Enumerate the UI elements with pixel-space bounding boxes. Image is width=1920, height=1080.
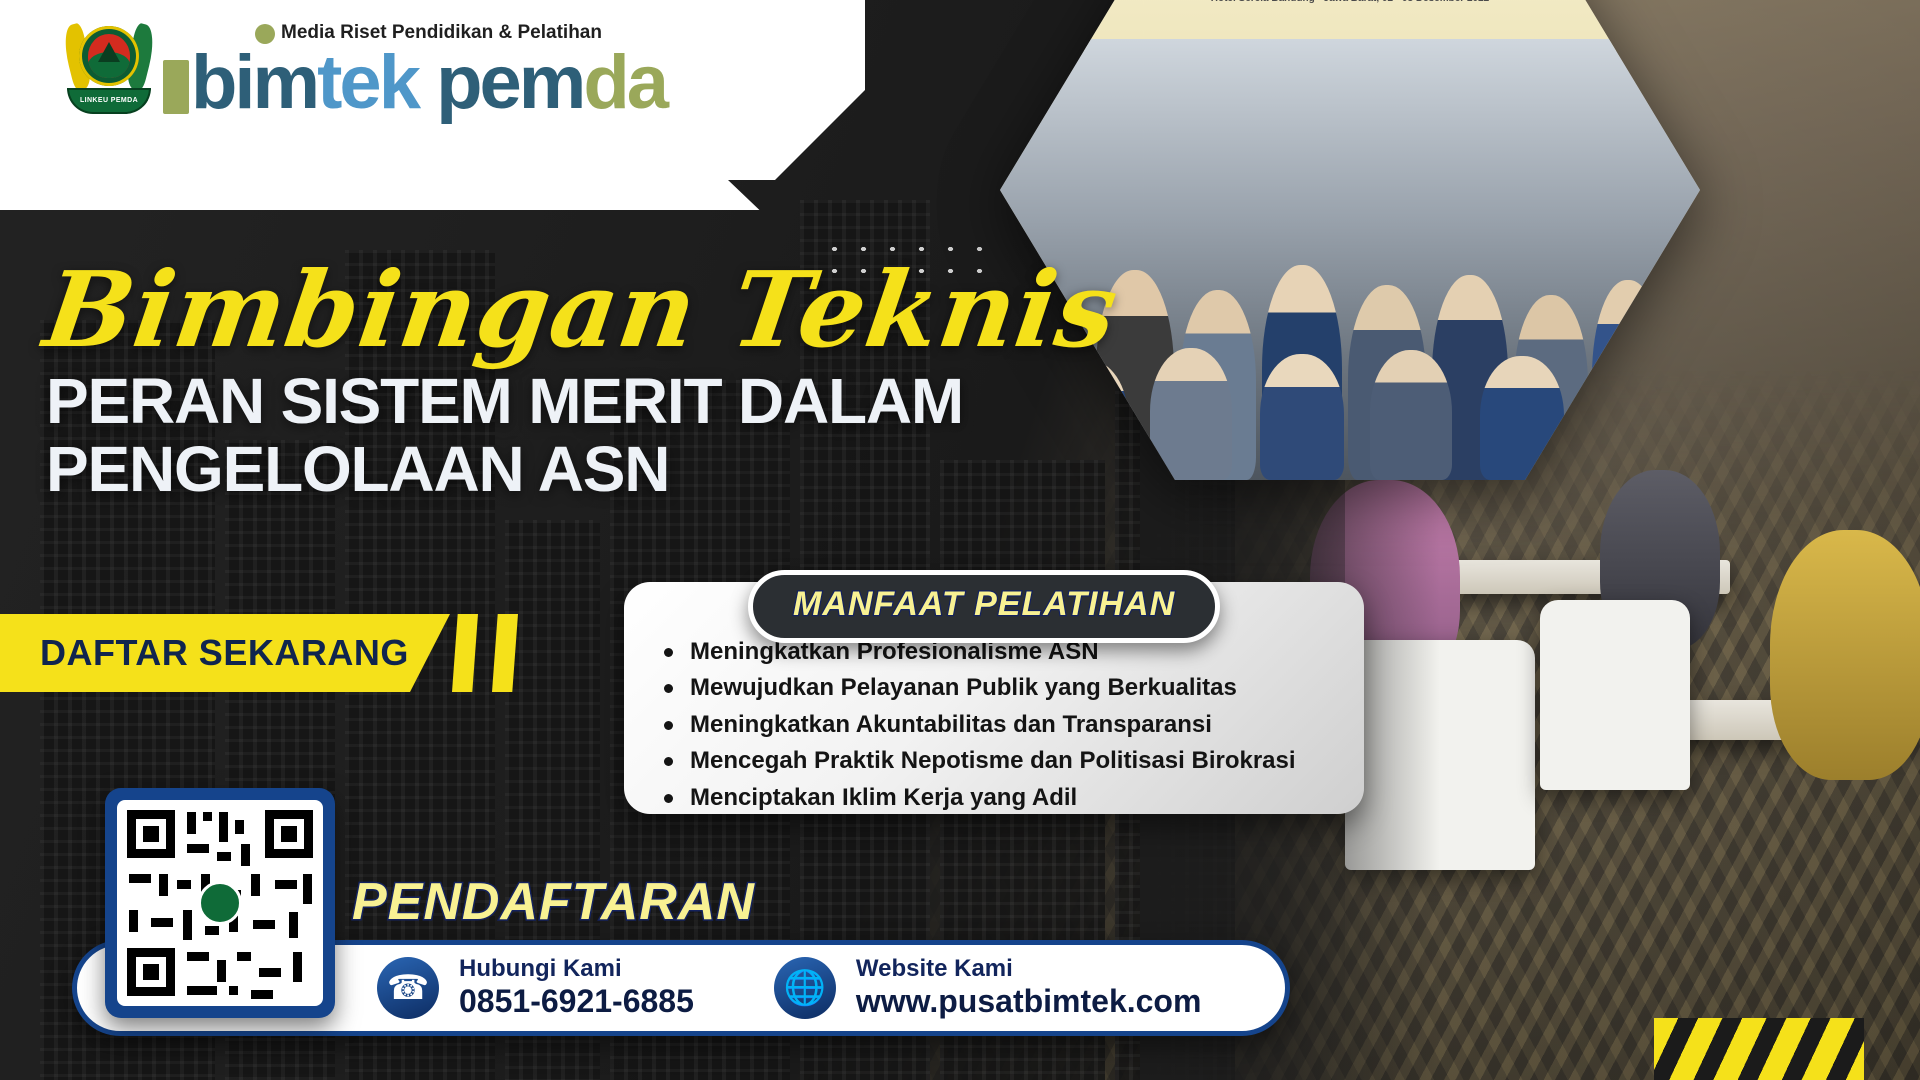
- list-item: Mencegah Praktik Nepotisme dan Politisas…: [654, 743, 1364, 779]
- pendaftaran-heading: PENDAFTARAN: [352, 872, 755, 932]
- emblem-ribbon-label: LINKEU PEMDA: [80, 97, 138, 104]
- brand-logo-row: LINKEU PEMDA Media Riset Pendidikan & Pe…: [65, 18, 666, 118]
- list-item: Meningkatkan Akuntabilitas dan Transpara…: [654, 707, 1364, 743]
- poster-canvas: LINKEU PEMDA Media Riset Pendidikan & Pe…: [0, 0, 1920, 1080]
- list-item: Menciptakan Iklim Kerja yang Adil: [654, 780, 1364, 816]
- website-label: Website Kami: [856, 956, 1202, 982]
- contact-phone[interactable]: ☎ Hubungi Kami 0851-6921-6885: [377, 956, 694, 1019]
- daftar-sekarang-label: DAFTAR SEKARANG: [40, 632, 409, 674]
- phone-value: 0851-6921-6885: [459, 983, 694, 1020]
- phone-label: Hubungi Kami: [459, 956, 694, 982]
- qr-center-emblem-icon: [198, 881, 242, 925]
- brand-part-tek: tek: [317, 40, 418, 125]
- linkeu-pemda-emblem-icon: LINKEU PEMDA: [65, 20, 153, 116]
- room-chair: [1540, 600, 1690, 790]
- hexagon-group-photo: PELATIHAN BLUD PUSKESMAS TAHUN 2022 DINA…: [1000, 0, 1700, 480]
- room-attendee: [1770, 530, 1920, 780]
- brand-part-pem: pem: [436, 40, 583, 125]
- brand-wordmark: Media Riset Pendidikan & Pelatihan bimte…: [163, 18, 666, 118]
- brand-tagline: Media Riset Pendidikan & Pelatihan: [281, 22, 602, 44]
- benefits-title-badge: MANFAAT PELATIHAN: [748, 570, 1220, 643]
- benefits-list: Meningkatkan Profesionalisme ASN Mewujud…: [654, 634, 1364, 816]
- contact-website[interactable]: 🌐 Website Kami www.pusatbimtek.com: [774, 956, 1202, 1019]
- wordmark-bar-icon: [163, 60, 189, 114]
- brand-name: bimtek pemda: [163, 48, 666, 118]
- daftar-sekarang-button[interactable]: DAFTAR SEKARANG: [0, 614, 450, 692]
- brand-part-da: da: [583, 40, 666, 125]
- main-headline: PERAN SISTEM MERIT DALAM PENGELOLAAN ASN: [46, 368, 963, 504]
- benefits-title-label: MANFAAT PELATIHAN: [793, 585, 1175, 623]
- main-headline-line1: PERAN SISTEM MERIT DALAM: [46, 368, 963, 436]
- hazard-stripe-decoration: [1654, 1018, 1864, 1080]
- event-banner-line3: Hotel Serela Bandung - Jawa Barat, 02 - …: [1211, 0, 1489, 4]
- list-item: Mewujudkan Pelayanan Publik yang Berkual…: [654, 670, 1364, 706]
- qr-code: [117, 800, 323, 1006]
- wordmark-dot-icon: [255, 24, 275, 44]
- phone-icon: ☎: [377, 957, 439, 1019]
- qr-code-card[interactable]: [105, 788, 335, 1018]
- script-headline: Bimbingan Teknis: [39, 258, 1124, 362]
- main-headline-line2: PENGELOLAAN ASN: [46, 436, 963, 504]
- website-value: www.pusatbimtek.com: [856, 983, 1202, 1020]
- brand-part-bim: bim: [191, 40, 317, 125]
- globe-icon: 🌐: [774, 957, 836, 1019]
